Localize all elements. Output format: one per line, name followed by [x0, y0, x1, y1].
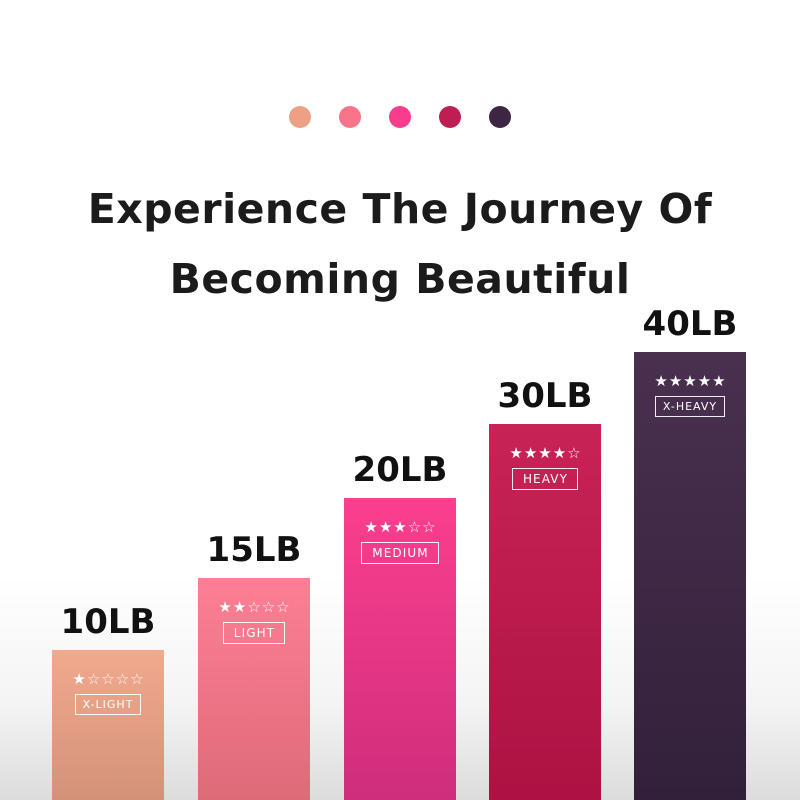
- star-empty-icon: ☆: [130, 672, 143, 687]
- star-filled-icon: ★: [669, 374, 682, 389]
- bar-group: 15LB★★☆☆☆LIGHT: [198, 518, 310, 800]
- star-empty-icon: ☆: [276, 600, 289, 615]
- level-tag: HEAVY: [512, 468, 578, 490]
- star-rating: ★★★☆☆: [364, 520, 435, 535]
- star-empty-icon: ☆: [101, 672, 114, 687]
- star-filled-icon: ★: [233, 600, 246, 615]
- star-empty-icon: ☆: [116, 672, 129, 687]
- star-rating: ★★☆☆☆: [218, 600, 289, 615]
- bar-15lb[interactable]: ★★☆☆☆LIGHT: [198, 578, 310, 800]
- star-rating: ★★★★☆: [509, 446, 580, 461]
- star-rating: ★☆☆☆☆: [72, 672, 143, 687]
- star-filled-icon: ★: [698, 374, 711, 389]
- bar-badge: ★★☆☆☆LIGHT: [218, 600, 289, 644]
- star-empty-icon: ☆: [408, 520, 421, 535]
- bar-badge: ★★★★★X-HEAVY: [654, 374, 725, 417]
- bar-weight-label: 15LB: [198, 530, 310, 570]
- resistance-bar-chart: 10LB★☆☆☆☆X-LIGHT15LB★★☆☆☆LIGHT20LB★★★☆☆M…: [0, 0, 800, 800]
- star-filled-icon: ★: [364, 520, 377, 535]
- star-filled-icon: ★: [538, 446, 551, 461]
- star-filled-icon: ★: [654, 374, 667, 389]
- star-empty-icon: ☆: [87, 672, 100, 687]
- star-empty-icon: ☆: [567, 446, 580, 461]
- infographic-canvas: Experience The Journey Of Becoming Beaut…: [0, 0, 800, 800]
- star-filled-icon: ★: [72, 672, 85, 687]
- level-tag: MEDIUM: [361, 542, 438, 564]
- star-filled-icon: ★: [553, 446, 566, 461]
- bar-group: 20LB★★★☆☆MEDIUM: [344, 438, 456, 800]
- star-empty-icon: ☆: [422, 520, 435, 535]
- bar-20lb[interactable]: ★★★☆☆MEDIUM: [344, 498, 456, 800]
- star-empty-icon: ☆: [262, 600, 275, 615]
- star-filled-icon: ★: [218, 600, 231, 615]
- star-filled-icon: ★: [393, 520, 406, 535]
- level-tag: X-HEAVY: [655, 396, 725, 417]
- bar-badge: ★★★★☆HEAVY: [509, 446, 580, 490]
- star-rating: ★★★★★: [654, 374, 725, 389]
- star-filled-icon: ★: [524, 446, 537, 461]
- star-filled-icon: ★: [683, 374, 696, 389]
- bar-badge: ★★★☆☆MEDIUM: [361, 520, 438, 564]
- level-tag: LIGHT: [223, 622, 285, 644]
- bar-badge: ★☆☆☆☆X-LIGHT: [72, 672, 143, 715]
- star-empty-icon: ☆: [247, 600, 260, 615]
- star-filled-icon: ★: [379, 520, 392, 535]
- star-filled-icon: ★: [509, 446, 522, 461]
- bar-30lb[interactable]: ★★★★☆HEAVY: [489, 424, 601, 800]
- bar-40lb[interactable]: ★★★★★X-HEAVY: [634, 352, 746, 800]
- bar-group: 10LB★☆☆☆☆X-LIGHT: [52, 590, 164, 800]
- bar-group: 30LB★★★★☆HEAVY: [489, 364, 601, 800]
- bar-weight-label: 20LB: [344, 450, 456, 490]
- bar-10lb[interactable]: ★☆☆☆☆X-LIGHT: [52, 650, 164, 800]
- level-tag: X-LIGHT: [75, 694, 142, 715]
- bar-weight-label: 10LB: [52, 602, 164, 642]
- bar-weight-label: 30LB: [489, 376, 601, 416]
- bar-weight-label: 40LB: [634, 304, 746, 344]
- star-filled-icon: ★: [712, 374, 725, 389]
- bar-group: 40LB★★★★★X-HEAVY: [634, 292, 746, 800]
